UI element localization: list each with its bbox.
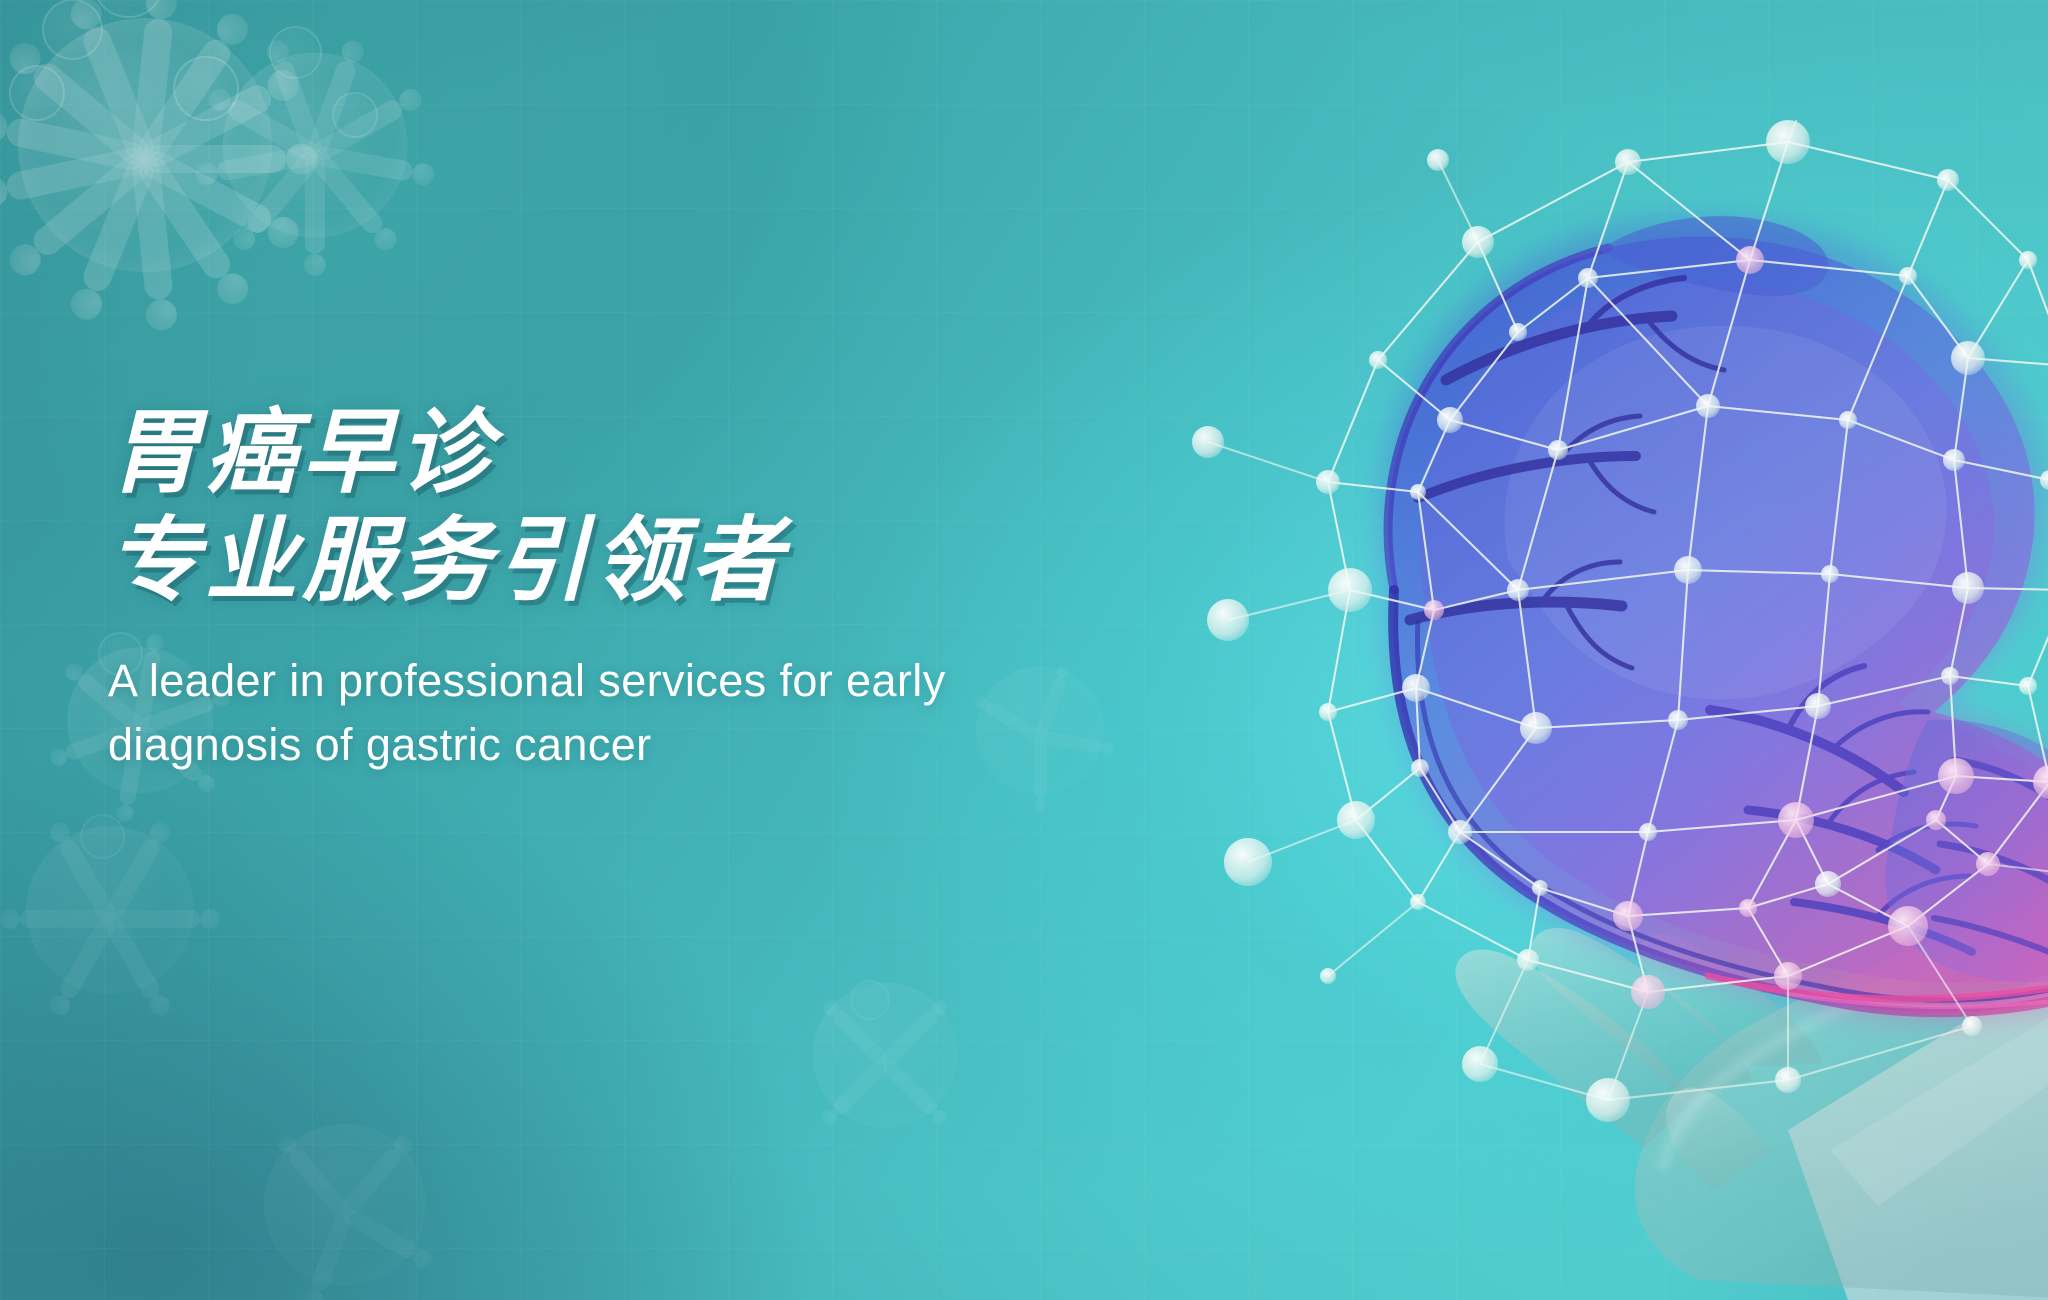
polygon-network-mesh-overlay	[1208, 120, 2048, 1100]
virus-particle-background-decoration	[200, 1060, 490, 1300]
virus-particle-background-decoration	[760, 930, 1010, 1180]
network-node-group	[1192, 120, 2048, 1122]
stomach-organ-illustration	[1088, 120, 2048, 1300]
virus-particle-background-decoration	[150, 0, 480, 310]
organ-glow-halo	[1188, 230, 2008, 990]
page-title: 胃癌早诊 专业服务引领者	[108, 400, 1188, 615]
page-subtitle: A leader in professional services for ea…	[108, 649, 1128, 777]
virus-particle-background-decoration	[0, 0, 380, 380]
stomach-shape	[1382, 216, 2048, 1020]
hero-banner: 胃癌早诊 专业服务引领者 A leader in professional se…	[0, 0, 2048, 1300]
open-hand-holding-organ	[1455, 880, 2048, 1300]
virus-particle-background-decoration	[0, 760, 260, 1060]
hero-text-block: 胃癌早诊 专业服务引领者 A leader in professional se…	[108, 400, 1188, 777]
subtitle-line-2: diagnosis of gastric cancer	[108, 713, 1128, 777]
subtitle-line-1: A leader in professional services for ea…	[108, 655, 946, 706]
headline-line-1: 胃癌早诊	[108, 402, 496, 504]
headline-line-2: 专业服务引领者	[108, 508, 1188, 616]
